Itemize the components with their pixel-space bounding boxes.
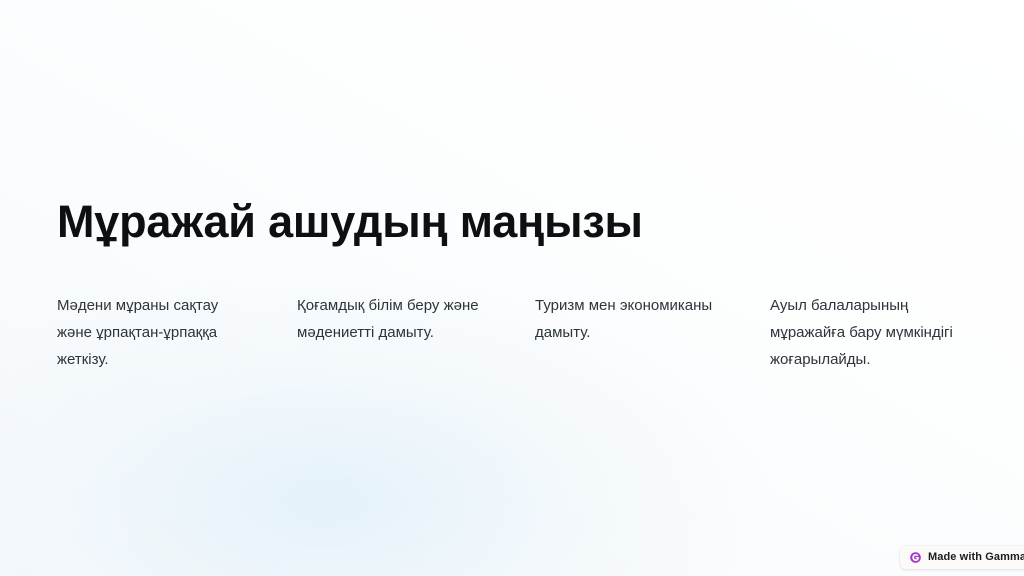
slide-canvas: Мұражай ашудың маңызы Мәдени мұраны сақт… [0, 0, 1024, 576]
bullet-column: Туризм мен экономиканы дамыту. [535, 292, 770, 346]
bullet-column-text: Мәдени мұраны сақтау және ұрпақтан-ұрпақ… [57, 292, 255, 373]
bullet-column-text: Қоғамдық білім беру және мәдениетті дамы… [297, 292, 493, 346]
gamma-logo-icon [909, 551, 922, 564]
made-with-gamma-label: Made with Gamma [928, 552, 1024, 563]
bullet-columns: Мәдени мұраны сақтау және ұрпақтан-ұрпақ… [57, 292, 967, 373]
bullet-column-text: Ауыл балаларының мұражайға бару мүмкінді… [770, 292, 967, 373]
bullet-column: Мәдени мұраны сақтау және ұрпақтан-ұрпақ… [57, 292, 297, 373]
page-title: Мұражай ашудың маңызы [57, 197, 643, 247]
made-with-gamma-badge[interactable]: Made with Gamma [900, 546, 1024, 569]
slide-content: Мұражай ашудың маңызы Мәдени мұраны сақт… [57, 0, 967, 576]
bullet-column: Қоғамдық білім беру және мәдениетті дамы… [297, 292, 535, 346]
bullet-column: Ауыл балаларының мұражайға бару мүмкінді… [770, 292, 967, 373]
bullet-column-text: Туризм мен экономиканы дамыту. [535, 292, 728, 346]
